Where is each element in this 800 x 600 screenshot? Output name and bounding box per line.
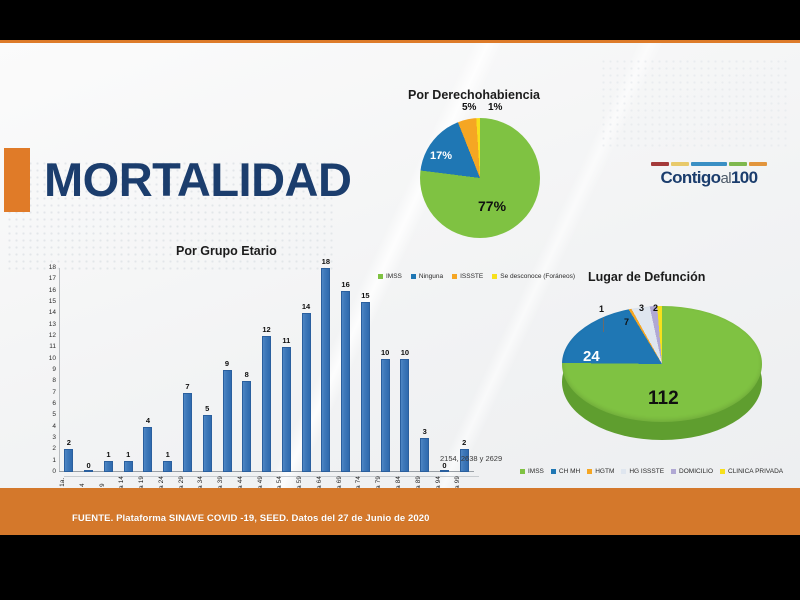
bar-chart-bars: 20114175981211141816151010302 xyxy=(59,268,474,472)
pie2-title: Lugar de Defunción xyxy=(588,270,705,284)
legend-swatch-icon xyxy=(452,274,457,279)
bar-value-label: 11 xyxy=(282,336,290,345)
legend-label: HG ISSSTE xyxy=(629,468,664,475)
bar-value-label: 15 xyxy=(361,291,369,300)
logo-bar-2 xyxy=(671,162,689,166)
logo-text-bold: Contigo xyxy=(660,168,720,187)
logo-color-bars xyxy=(651,162,767,166)
bar-column[interactable]: 5 xyxy=(197,268,217,472)
page-title: MORTALIDAD xyxy=(44,152,351,207)
bar-chart-annotation: 2154, 2638 y 2629 xyxy=(440,454,502,463)
pie1-label-imss: 77% xyxy=(478,198,506,214)
bar-value-label: 3 xyxy=(423,427,427,436)
bar-column[interactable]: 1 xyxy=(118,268,138,472)
logo-text-number: 100 xyxy=(731,168,758,187)
bar[interactable] xyxy=(163,461,172,472)
bar-column[interactable]: 14 xyxy=(296,268,316,472)
bar-column[interactable]: 2 xyxy=(454,268,474,472)
bar-value-label: 10 xyxy=(381,348,389,357)
y-axis-tick: 2 xyxy=(52,446,56,453)
bar-column[interactable]: 4 xyxy=(138,268,158,472)
bar[interactable] xyxy=(321,268,330,472)
legend-label: HGTM xyxy=(595,468,614,475)
y-axis-tick: 17 xyxy=(49,276,56,283)
legend-item[interactable]: CH MH xyxy=(551,468,580,475)
pie1-label-ninguna: 17% xyxy=(430,150,452,162)
bar-column[interactable]: 15 xyxy=(355,268,375,472)
y-axis-tick: 16 xyxy=(49,287,56,294)
bar-chart-y-axis-ticks: 0123456789101112131415161718 xyxy=(34,268,58,472)
slide-stage: MORTALIDAD Contigoal100 Por Grupo Etario… xyxy=(0,0,800,600)
bar-column[interactable]: 3 xyxy=(415,268,435,472)
legend-swatch-icon xyxy=(621,469,626,474)
slide-top-accent-line xyxy=(0,40,800,43)
footer-source-text: FUENTE. Plataforma SINAVE COVID -19, SEE… xyxy=(72,513,430,524)
bar-value-label: 12 xyxy=(262,325,270,334)
pie-chart-lugar-de-defuncion: Lugar de Defunción 112 24 1 7 3 2 IMSSCH… xyxy=(520,270,800,495)
bar-value-label: 16 xyxy=(341,280,349,289)
bar-column[interactable]: 11 xyxy=(276,268,296,472)
pie2-label-domicilio: 3 xyxy=(639,303,644,313)
legend-item[interactable]: ISSSTE xyxy=(452,273,483,280)
legend-label: CH MH xyxy=(559,468,580,475)
bar-value-label: 4 xyxy=(146,416,150,425)
y-axis-tick: 18 xyxy=(49,265,56,272)
bar[interactable] xyxy=(183,393,192,472)
bar-column[interactable]: 0 xyxy=(79,268,99,472)
pie2-leader-line-1 xyxy=(603,318,604,332)
y-axis-tick: 11 xyxy=(49,344,56,351)
legend-swatch-icon xyxy=(671,469,676,474)
y-axis-tick: 8 xyxy=(52,378,56,385)
bar[interactable] xyxy=(361,302,370,472)
bar-value-label: 2 xyxy=(462,438,466,447)
legend-label: Ninguna xyxy=(419,273,443,280)
legend-swatch-icon xyxy=(551,469,556,474)
bar[interactable] xyxy=(143,427,152,472)
y-axis-tick: 9 xyxy=(52,367,56,374)
bar-column[interactable]: 10 xyxy=(395,268,415,472)
bar-value-label: 1 xyxy=(126,450,130,459)
y-axis-tick: 13 xyxy=(49,321,56,328)
pie-chart-por-derechohabiencia: Por Derechohabiencia 77% 17% 5% 1% IMSSN… xyxy=(370,88,600,288)
pie1-graphic xyxy=(420,118,540,238)
bar-column[interactable]: 2 xyxy=(59,268,79,472)
bar-value-label: 7 xyxy=(185,382,189,391)
pie1-label-desconoce: 1% xyxy=(488,102,502,113)
y-axis-tick: 1 xyxy=(52,457,56,464)
bar[interactable] xyxy=(341,291,350,472)
y-axis-tick: 0 xyxy=(52,469,56,476)
letterbox-top xyxy=(0,0,800,40)
logo-contigo-al-100: Contigoal100 xyxy=(651,162,767,196)
bar-column[interactable]: 0 xyxy=(435,268,455,472)
bar[interactable] xyxy=(242,381,251,472)
legend-item[interactable]: IMSS xyxy=(378,273,402,280)
pie2-label-clinica-privada: 2 xyxy=(653,303,658,313)
legend-label: ISSSTE xyxy=(460,273,483,280)
bar[interactable] xyxy=(104,461,113,472)
legend-item[interactable]: Ninguna xyxy=(411,273,443,280)
legend-swatch-icon xyxy=(520,469,525,474)
legend-label: IMSS xyxy=(528,468,544,475)
bar[interactable] xyxy=(203,415,212,472)
y-axis-tick: 3 xyxy=(52,435,56,442)
bar-column[interactable]: 16 xyxy=(336,268,356,472)
bar-column[interactable]: 9 xyxy=(217,268,237,472)
bar-column[interactable]: 10 xyxy=(375,268,395,472)
bar-value-label: 10 xyxy=(401,348,409,357)
title-accent-tab xyxy=(4,148,30,212)
legend-swatch-icon xyxy=(378,274,383,279)
y-axis-tick: 4 xyxy=(52,423,56,430)
decorative-dot-pattern-right xyxy=(600,58,790,148)
legend-item[interactable]: IMSS xyxy=(520,468,544,475)
presentation-slide: MORTALIDAD Contigoal100 Por Grupo Etario… xyxy=(0,40,800,535)
logo-bar-4 xyxy=(729,162,747,166)
logo-text: Contigoal100 xyxy=(651,169,767,186)
logo-bar-1 xyxy=(651,162,669,166)
bar[interactable] xyxy=(282,347,291,472)
bar-value-label: 2 xyxy=(67,438,71,447)
bar-value-label: 18 xyxy=(322,257,330,266)
logo-text-light: al xyxy=(720,170,730,187)
bar-value-label: 1 xyxy=(106,450,110,459)
bar-value-label: 14 xyxy=(302,302,310,311)
logo-bar-3 xyxy=(691,162,727,166)
y-axis-tick: 7 xyxy=(52,389,56,396)
bar-value-label: 1 xyxy=(166,450,170,459)
bar-chart-title: Por Grupo Etario xyxy=(176,244,277,258)
bar-value-label: 9 xyxy=(225,359,229,368)
pie2-label-hgissste: 7 xyxy=(624,317,629,327)
legend-item[interactable]: DOMICILIO xyxy=(671,468,713,475)
legend-label: IMSS xyxy=(386,273,402,280)
legend-item[interactable]: HGTM xyxy=(587,468,614,475)
legend-swatch-icon xyxy=(492,274,497,279)
bar[interactable] xyxy=(84,470,93,472)
pie2-label-chmh: 24 xyxy=(583,348,600,365)
bar[interactable] xyxy=(400,359,409,472)
y-axis-tick: 6 xyxy=(52,401,56,408)
bar[interactable] xyxy=(223,370,232,472)
pie2-label-imss: 112 xyxy=(648,388,679,410)
logo-bar-5 xyxy=(749,162,767,166)
bar-value-label: 5 xyxy=(205,404,209,413)
legend-label: DOMICILIO xyxy=(679,468,713,475)
pie2-label-hgtm: 1 xyxy=(599,304,604,314)
bar[interactable] xyxy=(262,336,271,472)
bar-value-label: 0 xyxy=(87,461,91,470)
y-axis-tick: 15 xyxy=(49,299,56,306)
bar[interactable] xyxy=(381,359,390,472)
bar-column[interactable]: 1 xyxy=(99,268,119,472)
bar-column[interactable]: 12 xyxy=(257,268,277,472)
legend-label: CLINICA PRIVADA xyxy=(728,468,783,475)
bar-column[interactable]: 1 xyxy=(158,268,178,472)
bar-column[interactable]: 18 xyxy=(316,268,336,472)
bar[interactable] xyxy=(302,313,311,472)
y-axis-tick: 10 xyxy=(49,355,56,362)
legend-item[interactable]: HG ISSSTE xyxy=(621,468,664,475)
bar-value-label: 8 xyxy=(245,370,249,379)
bar[interactable] xyxy=(124,461,133,472)
bar-column[interactable]: 7 xyxy=(178,268,198,472)
pie2-legend: IMSSCH MHHGTMHG ISSSTEDOMICILIOCLINICA P… xyxy=(520,468,783,475)
bar[interactable] xyxy=(64,449,73,472)
legend-swatch-icon xyxy=(587,469,592,474)
y-axis-tick: 14 xyxy=(49,310,56,317)
pie2-graphic xyxy=(562,306,762,456)
pie1-label-issste: 5% xyxy=(462,102,476,113)
legend-swatch-icon xyxy=(720,469,725,474)
y-axis-tick: 12 xyxy=(49,333,56,340)
footer-band xyxy=(0,488,800,535)
bar[interactable] xyxy=(420,438,429,472)
bar-column[interactable]: 8 xyxy=(237,268,257,472)
legend-swatch-icon xyxy=(411,274,416,279)
y-axis-tick: 5 xyxy=(52,412,56,419)
legend-item[interactable]: CLINICA PRIVADA xyxy=(720,468,783,475)
bar[interactable] xyxy=(440,470,449,472)
letterbox-bottom xyxy=(0,535,800,600)
pie1-title: Por Derechohabiencia xyxy=(408,88,540,102)
